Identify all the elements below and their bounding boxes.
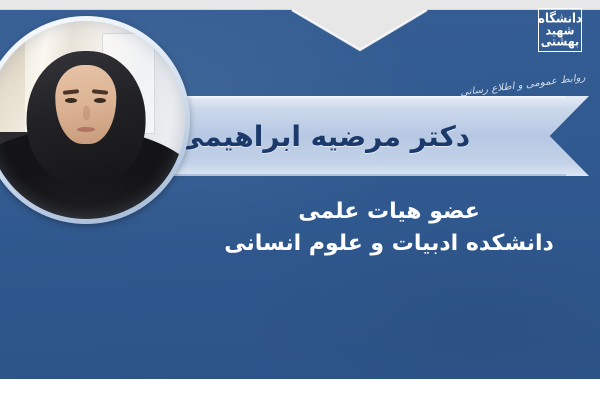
- bottom-white-strip: [0, 379, 600, 400]
- subtitle-line-1: عضو هیات علمی: [190, 198, 588, 227]
- portrait-nose: [83, 106, 90, 120]
- faculty-profile-banner: دانشگاه شهید بهشتی روابط عمومی و اطلاع ر…: [0, 0, 600, 400]
- portrait-photo: [0, 21, 185, 219]
- portrait-mouth: [77, 127, 95, 132]
- subtitle-line-2: دانشکده ادبیات و علوم انسانی: [190, 229, 588, 259]
- portrait-avatar: [0, 16, 190, 224]
- position-subtitle: عضو هیات علمی دانشکده ادبیات و علوم انسا…: [190, 198, 588, 259]
